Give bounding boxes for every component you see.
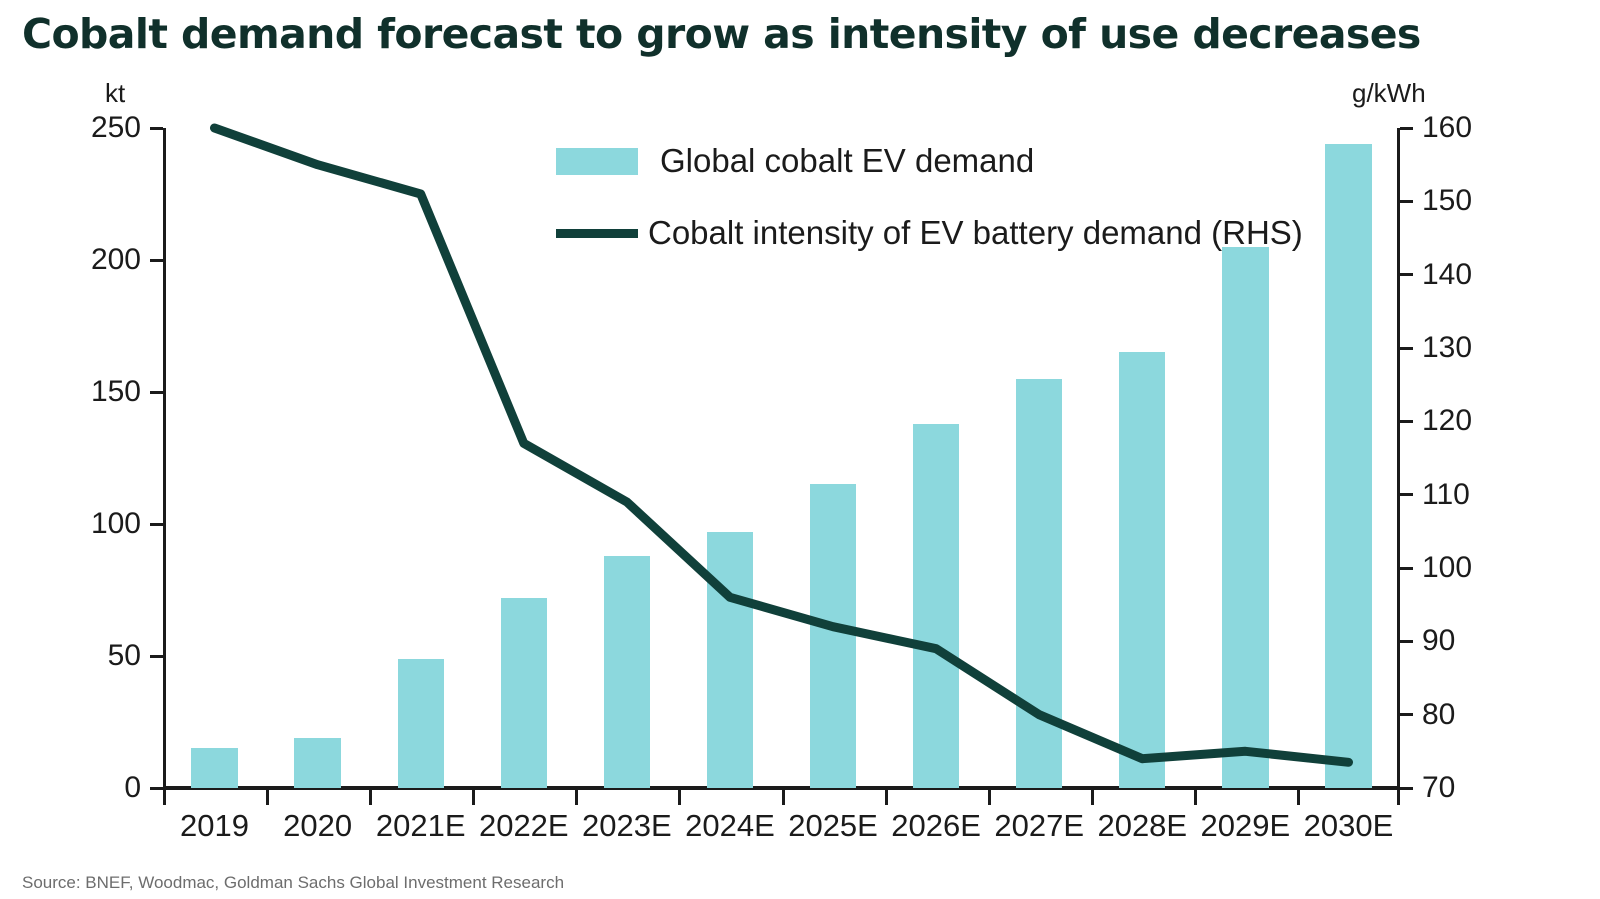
x-axis-tick bbox=[885, 790, 888, 805]
x-axis-tick bbox=[1091, 790, 1094, 805]
x-axis-label: 2025E bbox=[788, 808, 878, 844]
x-axis-label: 2028E bbox=[1097, 808, 1187, 844]
x-axis-label: 2022E bbox=[479, 808, 569, 844]
chart-page: Cobalt demand forecast to grow as intens… bbox=[0, 0, 1600, 899]
x-axis-tick bbox=[369, 790, 372, 805]
legend-line-label: Cobalt intensity of EV battery demand (R… bbox=[648, 214, 1303, 252]
x-axis-tick bbox=[472, 790, 475, 805]
x-axis-tick bbox=[678, 790, 681, 805]
x-axis-label: 2030E bbox=[1304, 808, 1394, 844]
right-axis-tick-label: 150 bbox=[1422, 186, 1472, 216]
right-axis-tick-label: 100 bbox=[1422, 553, 1472, 583]
x-axis-tick bbox=[163, 790, 166, 805]
x-axis-label: 2024E bbox=[685, 808, 775, 844]
right-axis-tick bbox=[1400, 273, 1413, 276]
right-axis-tick bbox=[1400, 420, 1413, 423]
right-axis-tick bbox=[1400, 567, 1413, 570]
right-axis-tick-label: 80 bbox=[1422, 700, 1455, 730]
source-note: Source: BNEF, Woodmac, Goldman Sachs Glo… bbox=[22, 873, 564, 893]
left-axis-tick bbox=[150, 259, 163, 262]
legend-line-swatch-icon bbox=[556, 229, 638, 238]
right-axis-tick-label: 110 bbox=[1422, 480, 1470, 510]
x-axis-tick bbox=[782, 790, 785, 805]
left-axis-tick bbox=[150, 655, 163, 658]
right-axis-tick-label: 130 bbox=[1422, 333, 1472, 363]
left-axis-tick-label: 0 bbox=[124, 773, 141, 803]
x-axis-label: 2021E bbox=[376, 808, 466, 844]
left-axis-tick-label: 100 bbox=[91, 509, 141, 539]
right-axis-tick bbox=[1400, 787, 1413, 790]
legend-bar-swatch-icon bbox=[556, 148, 638, 175]
legend-bar-label: Global cobalt EV demand bbox=[660, 142, 1034, 180]
x-axis-label: 2023E bbox=[582, 808, 672, 844]
chart-title: Cobalt demand forecast to grow as intens… bbox=[22, 10, 1421, 58]
x-axis-label: 2026E bbox=[891, 808, 981, 844]
x-axis-label: 2027E bbox=[994, 808, 1084, 844]
right-axis-tick bbox=[1400, 347, 1413, 350]
x-axis-label: 2019 bbox=[180, 808, 249, 844]
right-axis-unit-label: g/kWh bbox=[1352, 78, 1426, 109]
x-axis-tick bbox=[1194, 790, 1197, 805]
x-axis-label: 2029E bbox=[1201, 808, 1291, 844]
x-axis-tick bbox=[266, 790, 269, 805]
left-axis-tick bbox=[150, 391, 163, 394]
left-axis-tick-label: 50 bbox=[108, 641, 141, 671]
left-axis-tick bbox=[150, 787, 163, 790]
right-axis-tick bbox=[1400, 127, 1413, 130]
right-axis-tick bbox=[1400, 493, 1413, 496]
x-axis-tick bbox=[575, 790, 578, 805]
right-axis-tick-label: 90 bbox=[1422, 626, 1455, 656]
legend-item-bar: Global cobalt EV demand bbox=[556, 125, 1303, 197]
legend-item-line: Cobalt intensity of EV battery demand (R… bbox=[556, 197, 1303, 269]
left-axis-tick-label: 200 bbox=[91, 245, 141, 275]
right-axis-tick-label: 140 bbox=[1422, 260, 1472, 290]
left-axis-tick bbox=[150, 127, 163, 130]
right-axis-tick bbox=[1400, 713, 1413, 716]
legend: Global cobalt EV demand Cobalt intensity… bbox=[556, 125, 1303, 269]
right-axis-tick bbox=[1400, 640, 1413, 643]
x-axis-tick bbox=[1297, 790, 1300, 805]
x-axis-label: 2020 bbox=[283, 808, 352, 844]
right-axis-tick-label: 70 bbox=[1422, 773, 1455, 803]
x-axis-tick bbox=[1397, 790, 1400, 805]
right-axis-tick bbox=[1400, 200, 1413, 203]
right-axis-tick-label: 120 bbox=[1422, 406, 1472, 436]
left-axis-unit-label: kt bbox=[105, 78, 125, 109]
left-axis-tick-label: 250 bbox=[91, 113, 141, 143]
left-axis-tick-label: 150 bbox=[91, 377, 141, 407]
left-axis-tick bbox=[150, 523, 163, 526]
x-axis-tick bbox=[988, 790, 991, 805]
right-axis-tick-label: 160 bbox=[1422, 113, 1472, 143]
